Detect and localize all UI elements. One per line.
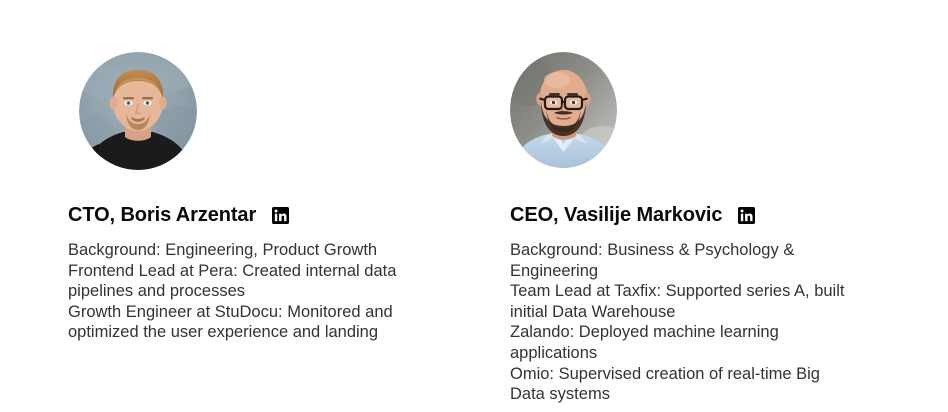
profile-name-row-ceo: CEO, Vasilije Markovic — [510, 202, 910, 228]
bio-line: Omio: Supervised creation of real-time B… — [510, 364, 858, 405]
profile-name-row-cto: CTO, Boris Arzentar — [68, 202, 468, 228]
profile-card-cto: CTO, Boris Arzentar Background: Engineer… — [68, 52, 468, 405]
page-title-cto: CTO, Boris Arzentar — [68, 202, 256, 228]
profile-card-ceo: CEO, Vasilije Markovic Background: Busin… — [510, 52, 910, 405]
profile-bio-ceo: Background: Business & Psychology & Engi… — [510, 240, 858, 405]
avatar-vasilije-markovic — [510, 52, 617, 168]
page-title-ceo: CEO, Vasilije Markovic — [510, 202, 722, 228]
linkedin-icon[interactable] — [272, 207, 289, 224]
bio-line: Frontend Lead at Pera: Created internal … — [68, 261, 413, 302]
bio-line: Team Lead at Taxfix: Supported series A,… — [510, 281, 858, 322]
linkedin-icon[interactable] — [738, 207, 755, 224]
portrait-vasilije-markovic-image — [510, 52, 617, 168]
bio-line: Background: Engineering, Product Growth — [68, 240, 413, 261]
bio-line: Background: Business & Psychology & Engi… — [510, 240, 858, 281]
profiles-row: CTO, Boris Arzentar Background: Engineer… — [0, 0, 948, 405]
avatar-boris-arzentar — [79, 52, 197, 170]
portrait-boris-arzentar-image — [79, 52, 197, 170]
profile-bio-cto: Background: Engineering, Product Growth … — [68, 240, 413, 343]
bio-line: Growth Engineer at StuDocu: Monitored an… — [68, 302, 413, 343]
bio-line: Zalando: Deployed machine learning appli… — [510, 322, 858, 363]
team-profiles-page: CTO, Boris Arzentar Background: Engineer… — [0, 0, 948, 412]
